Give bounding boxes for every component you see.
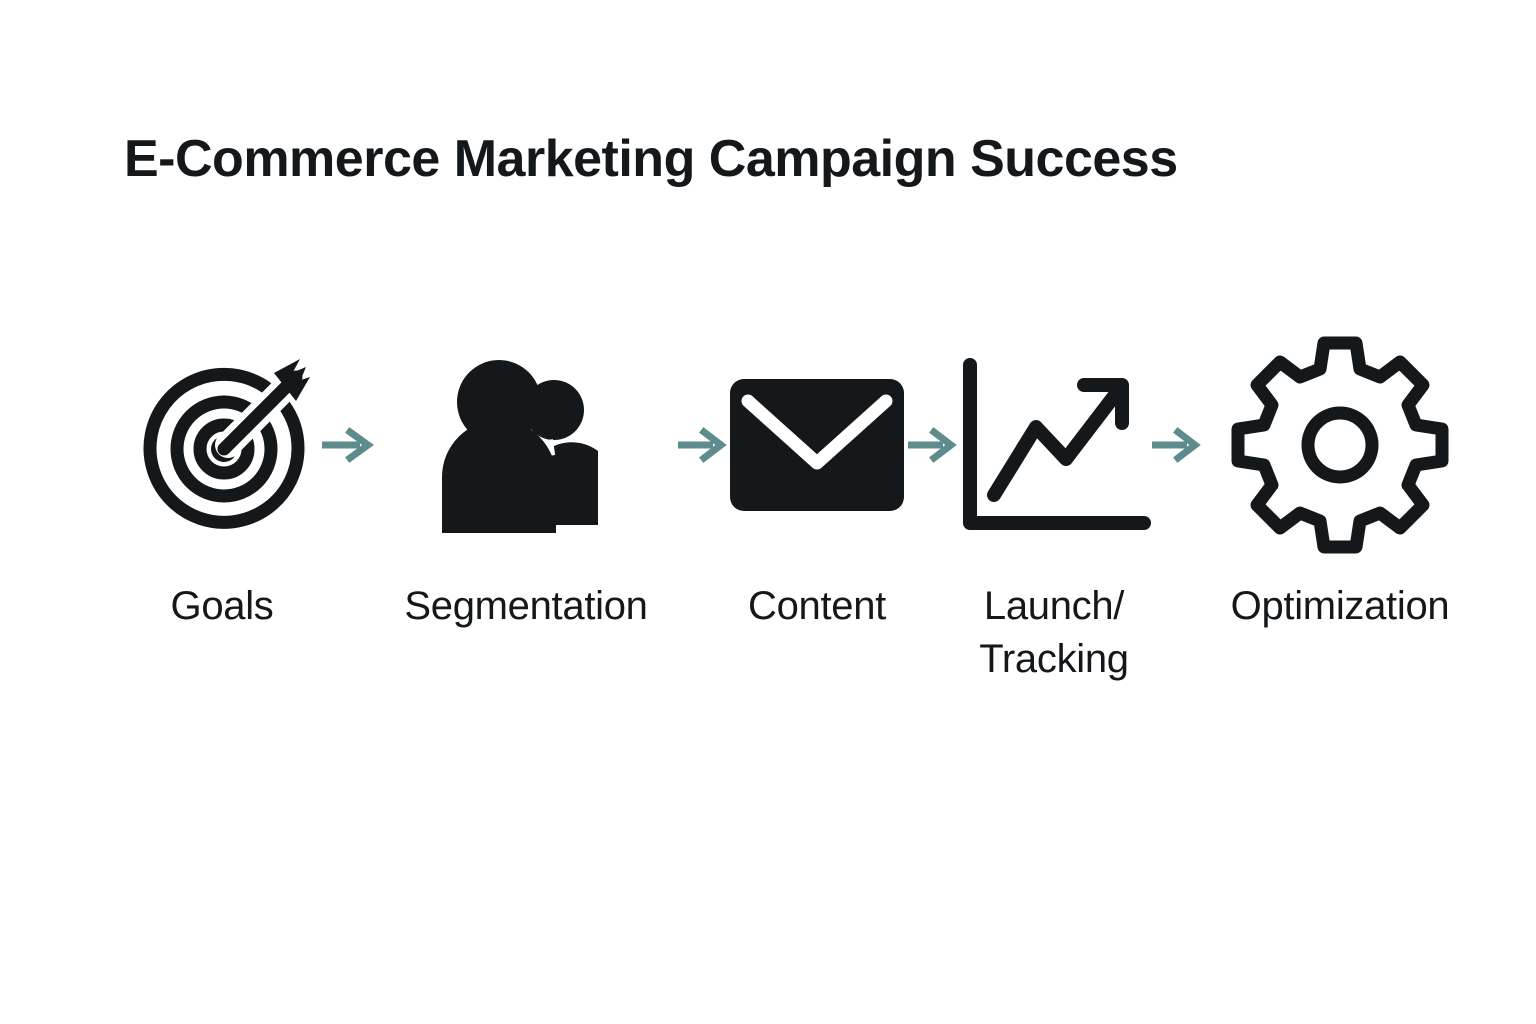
flow-step-content[interactable]: Content: [728, 352, 906, 633]
line-chart-icon: [958, 352, 1150, 538]
arrow-right-icon: [320, 425, 376, 465]
flow-connector-1: [320, 352, 376, 538]
flow-step-label-segmentation: Segmentation: [404, 580, 647, 633]
flow-step-optimization[interactable]: Optimization: [1202, 352, 1478, 633]
flow-connector-2: [676, 352, 728, 538]
process-flow-diagram: Goals: [124, 352, 1464, 686]
arrow-right-icon: [906, 425, 958, 465]
slide-canvas: E-Commerce Marketing Campaign Success: [0, 0, 1536, 1024]
page-title: E-Commerce Marketing Campaign Success: [124, 128, 1178, 190]
flow-step-goals[interactable]: Goals: [124, 352, 320, 633]
flow-connector-3: [906, 352, 958, 538]
flow-step-label-launch-tracking: Launch/ Tracking: [979, 580, 1129, 686]
flow-step-label-content: Content: [748, 580, 886, 633]
flow-step-launch-tracking[interactable]: Launch/ Tracking: [958, 352, 1150, 686]
arrow-right-icon: [676, 425, 728, 465]
people-icon: [436, 352, 616, 538]
envelope-icon: [728, 352, 906, 538]
flow-step-segmentation[interactable]: Segmentation: [376, 352, 676, 633]
flow-connector-4: [1150, 352, 1202, 538]
target-icon: [124, 352, 320, 538]
flow-step-label-goals: Goals: [171, 580, 274, 633]
gear-icon: [1250, 352, 1430, 538]
flow-step-label-optimization: Optimization: [1231, 580, 1450, 633]
arrow-right-icon: [1150, 425, 1202, 465]
